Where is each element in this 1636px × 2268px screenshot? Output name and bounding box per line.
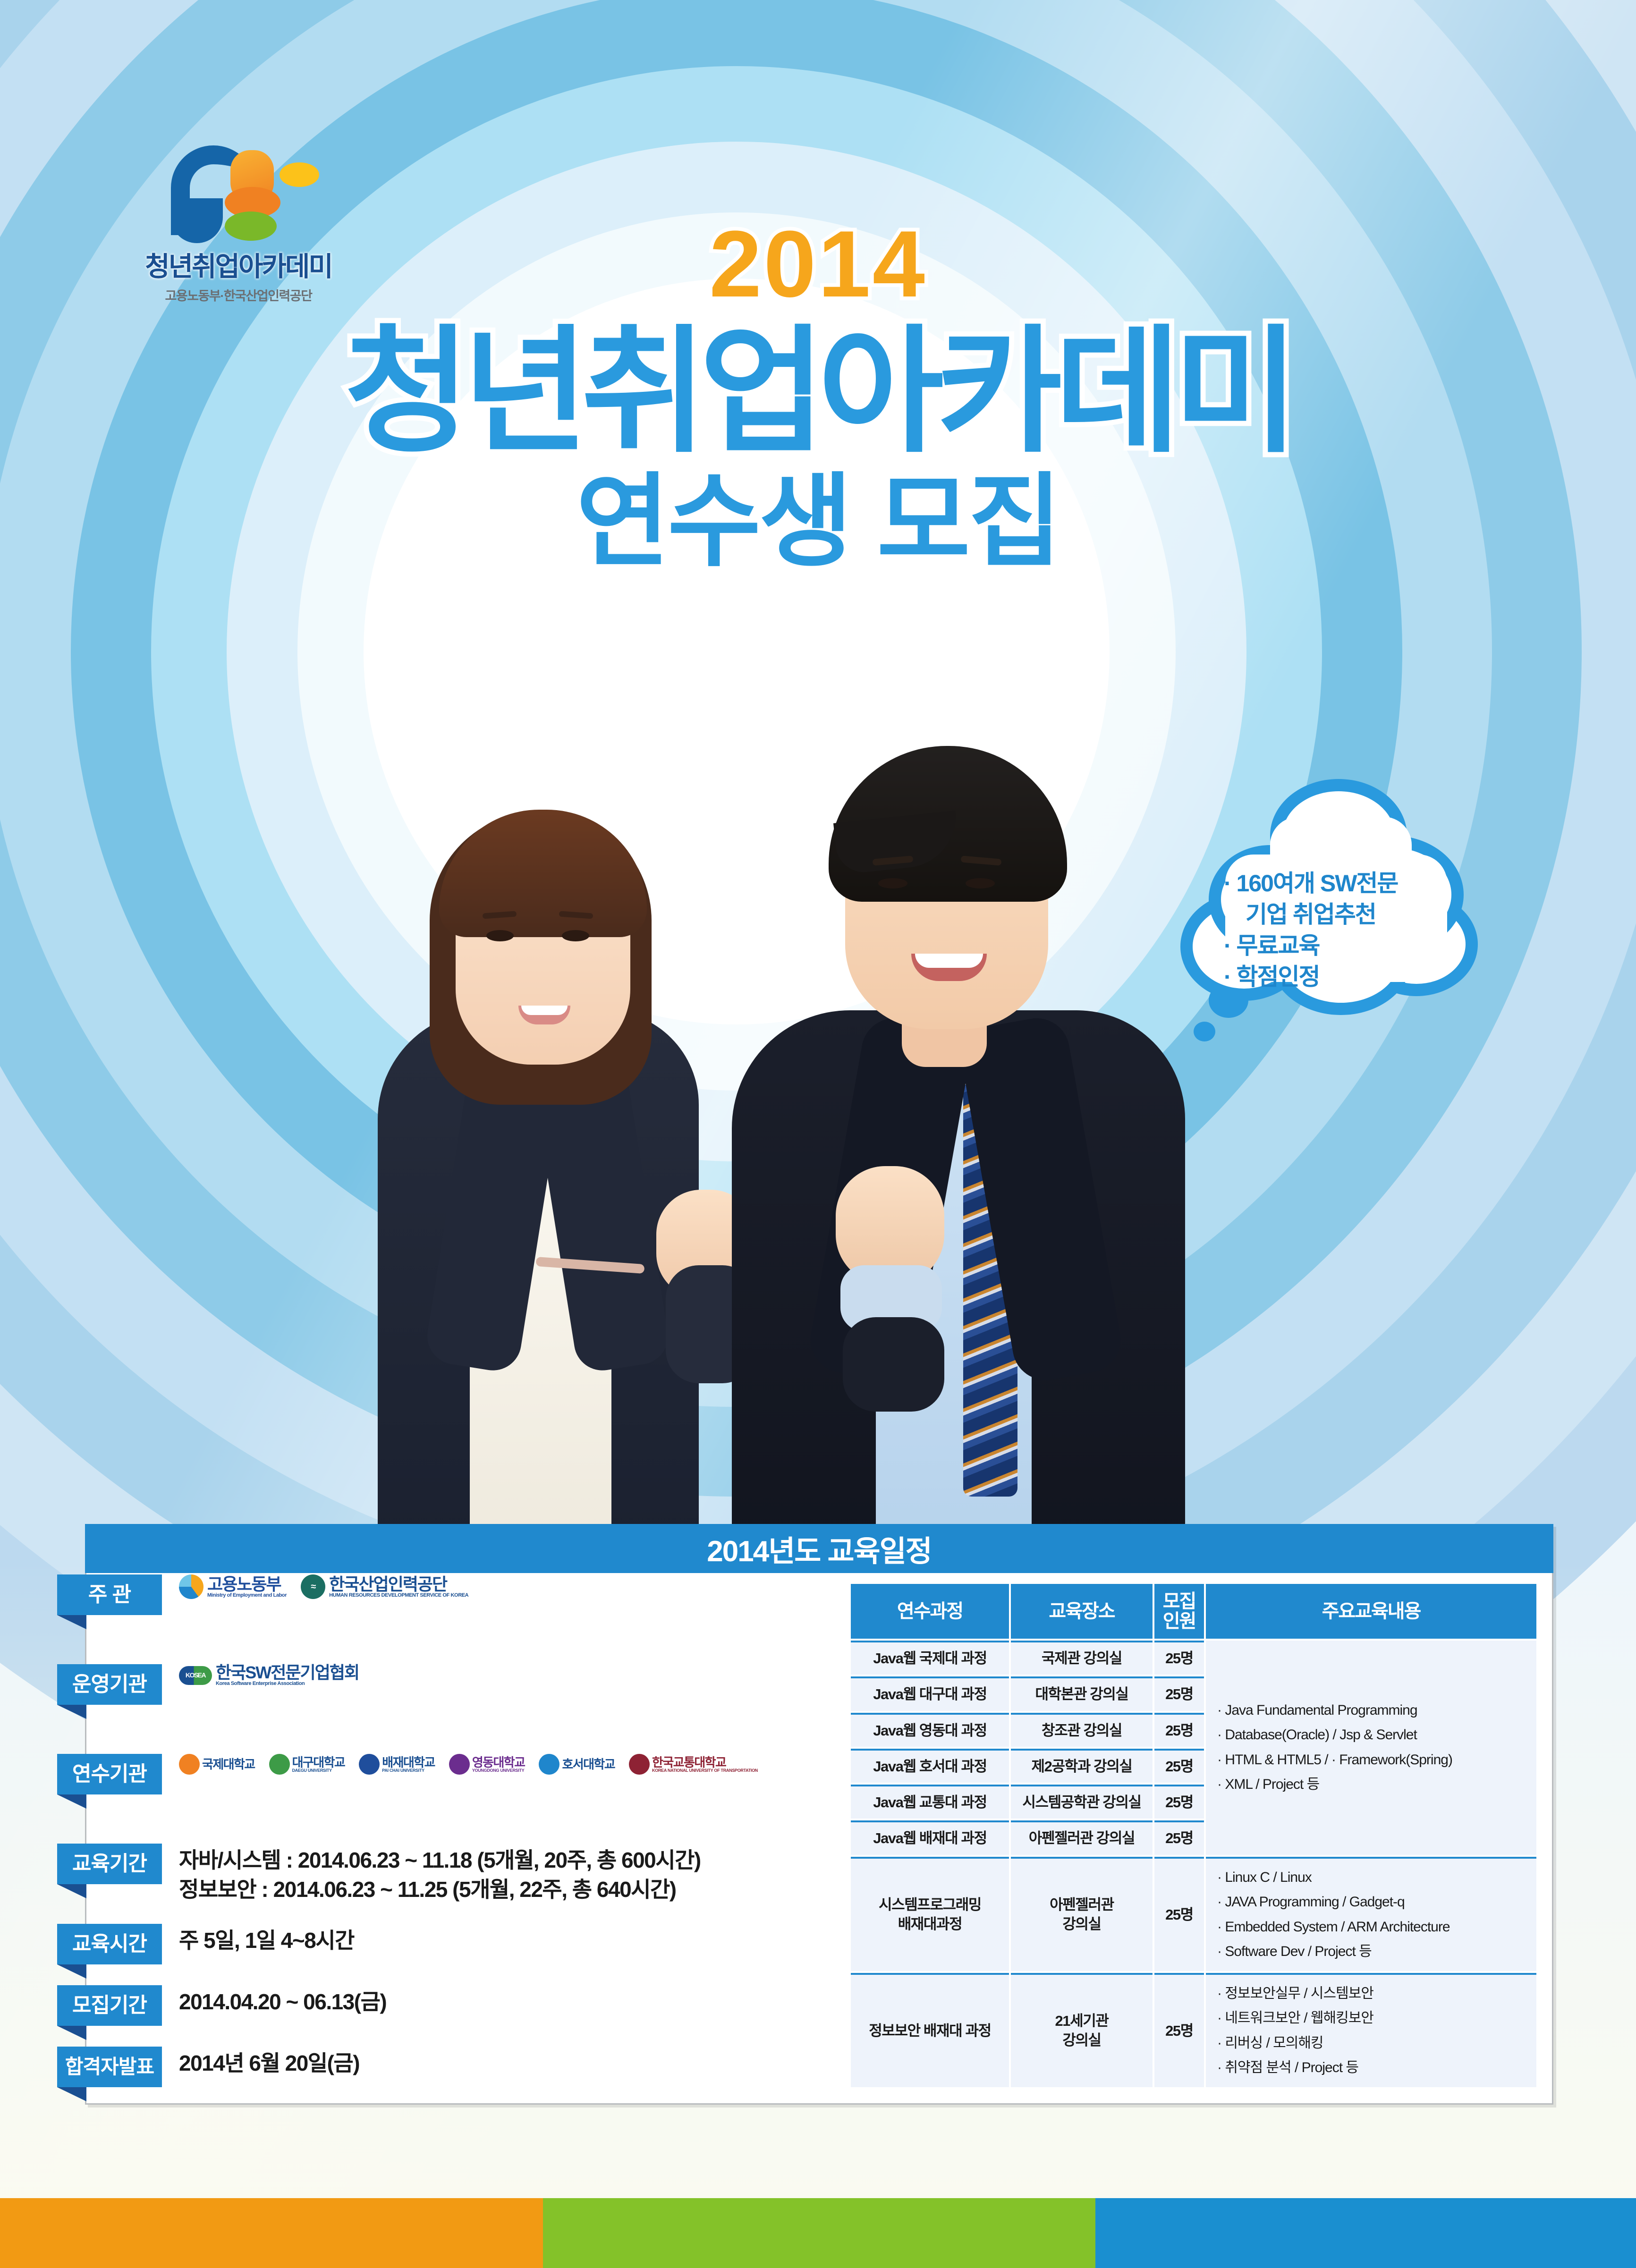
info-row-label: 합격자발표 bbox=[57, 2047, 162, 2087]
course-table-row: 정보보안 배재대 과정21세기관강의실25명· 정보보안실무 / 시스템보안· … bbox=[851, 1973, 1536, 2087]
partner-logo-name-ko: 한국산업인력공단 bbox=[329, 1576, 468, 1593]
university-seal-icon bbox=[179, 1754, 200, 1775]
university-logo-text: 대구대학교DAEGU UNIVERSITY bbox=[292, 1756, 345, 1773]
course-table-header-cell: 교육장소 bbox=[1011, 1584, 1153, 1639]
partner-logo-text: 한국SW전문기업협회Korea Software Enterprise Asso… bbox=[216, 1664, 359, 1686]
course-cell-place: 대학본관 강의실 bbox=[1011, 1676, 1153, 1710]
university-seal-icon bbox=[449, 1754, 470, 1775]
university-name-ko: 한국교통대학교 bbox=[652, 1756, 758, 1769]
info-row-value: 주 5일, 1일 4~8시간 bbox=[162, 1924, 842, 1955]
benefit-line-1: 기업 취업추천 bbox=[1224, 899, 1446, 930]
info-row-value: 2014년 6월 20일(금) bbox=[162, 2047, 842, 2078]
schedule-panel-header: 2014년도 교육일정 bbox=[85, 1524, 1553, 1573]
course-cell-place: 아펜젤러관 강의실 bbox=[1011, 1820, 1153, 1854]
program-info-list: 주 관고용노동부Ministry of Employment and Labor… bbox=[86, 1574, 842, 2108]
hrd-emblem-icon: ≈ bbox=[301, 1574, 325, 1599]
course-table: 연수과정교육장소모집인원주요교육내용 Java웹 국제대 과정국제관 강의실25… bbox=[849, 1582, 1538, 2089]
course-description-line: · HTML & HTML5 / · Framework(Spring) bbox=[1217, 1748, 1534, 1773]
benefit-line-2: · 무료교육 bbox=[1224, 930, 1446, 961]
university-logo-text: 국제대학교 bbox=[202, 1758, 255, 1770]
partner-logo: ≈한국산업인력공단HUMAN RESOURCES DEVELOPMENT SER… bbox=[301, 1574, 468, 1599]
course-table-header-cell: 연수과정 bbox=[851, 1584, 1009, 1639]
course-cell-quota: 25명 bbox=[1154, 1676, 1204, 1710]
course-cell-course: Java웹 영동대 과정 bbox=[851, 1713, 1009, 1747]
schedule-panel: 주 관고용노동부Ministry of Employment and Labor… bbox=[85, 1524, 1553, 2105]
course-cell-quota: 25명 bbox=[1154, 1785, 1204, 1819]
info-row-value: 고용노동부Ministry of Employment and Labor≈한국… bbox=[162, 1574, 842, 1599]
info-row-label: 연수기관 bbox=[57, 1754, 162, 1794]
benefit-line-0: · 160여개 SW전문 bbox=[1224, 868, 1446, 899]
course-cell-course: Java웹 교통대 과정 bbox=[851, 1785, 1009, 1819]
course-cell-description: · Java Fundamental Programming· Database… bbox=[1206, 1641, 1536, 1855]
logo-yellow-dot-shape bbox=[280, 162, 319, 187]
course-description-line: · Java Fundamental Programming bbox=[1217, 1698, 1534, 1723]
university-logo-text: 한국교통대학교KOREA NATIONAL UNIVERSITY OF TRAN… bbox=[652, 1756, 758, 1773]
info-text-line-0: 2014년 6월 20일(금) bbox=[179, 2048, 842, 2078]
course-cell-place: 아펜젤러관강의실 bbox=[1011, 1857, 1153, 1971]
university-name-ko: 대구대학교 bbox=[292, 1756, 345, 1769]
footer-strip-blue bbox=[1095, 2198, 1636, 2268]
course-description-line: · 취약점 분석 / Project 등 bbox=[1217, 2056, 1534, 2081]
info-row-value: 국제대학교대구대학교DAEGU UNIVERSITY배재대학교PAI CHAI … bbox=[162, 1754, 842, 1775]
partner-logo-name-ko: 고용노동부 bbox=[207, 1576, 287, 1593]
partner-logo-row: KOSEA한국SW전문기업협회Korea Software Enterprise… bbox=[179, 1664, 359, 1686]
course-cell-description: · 정보보안실무 / 시스템보안· 네트워크보안 / 웹해킹보안· 리버싱 / … bbox=[1206, 1973, 1536, 2087]
course-cell-quota: 25명 bbox=[1154, 1857, 1204, 1971]
benefits-list: · 160여개 SW전문기업 취업추천· 무료교육· 학점인정 bbox=[1224, 868, 1446, 992]
info-row: 모집기간2014.04.20 ~ 06.13(금) bbox=[86, 1985, 842, 2047]
benefit-line-3: · 학점인정 bbox=[1224, 961, 1446, 992]
kosea-emblem-icon: KOSEA bbox=[179, 1666, 212, 1685]
thought-bubble-dot-small bbox=[1194, 1022, 1215, 1041]
course-description-line: · XML / Project 등 bbox=[1217, 1772, 1534, 1797]
partner-logo-row: 고용노동부Ministry of Employment and Labor≈한국… bbox=[179, 1574, 468, 1599]
info-text-line-0: 2014.04.20 ~ 06.13(금) bbox=[179, 1987, 842, 2016]
course-cell-place: 시스템공학관 강의실 bbox=[1011, 1785, 1153, 1819]
info-row: 운영기관KOSEA한국SW전문기업협회Korea Software Enterp… bbox=[86, 1664, 842, 1754]
university-name-ko: 국제대학교 bbox=[202, 1758, 255, 1770]
info-text-line-0: 주 5일, 1일 4~8시간 bbox=[179, 1926, 842, 1955]
course-cell-place: 창조관 강의실 bbox=[1011, 1713, 1153, 1747]
info-row-label: 교육시간 bbox=[57, 1924, 162, 1964]
university-logo: 국제대학교 bbox=[179, 1754, 255, 1775]
university-logo: 호서대학교 bbox=[539, 1754, 615, 1775]
footer-strip-orange bbox=[0, 2198, 543, 2268]
university-logo: 대구대학교DAEGU UNIVERSITY bbox=[269, 1754, 345, 1775]
course-table-header-cell: 모집인원 bbox=[1154, 1584, 1204, 1639]
university-name-ko: 호서대학교 bbox=[562, 1758, 615, 1770]
woman-hair-top bbox=[439, 810, 647, 937]
partner-logo-name-en: Korea Software Enterprise Association bbox=[216, 1681, 359, 1686]
university-logo: 영동대학교YOUNGDONG UNIVERSITY bbox=[449, 1754, 525, 1775]
course-cell-quota: 25명 bbox=[1154, 1713, 1204, 1747]
course-table-head: 연수과정교육장소모집인원주요교육내용 bbox=[851, 1584, 1536, 1639]
info-row-label: 운영기관 bbox=[57, 1664, 162, 1705]
partner-logo-text: 한국산업인력공단HUMAN RESOURCES DEVELOPMENT SERV… bbox=[329, 1576, 468, 1598]
course-cell-place: 국제관 강의실 bbox=[1011, 1641, 1153, 1675]
info-row-value: 2014.04.20 ~ 06.13(금) bbox=[162, 1985, 842, 2016]
university-seal-icon bbox=[629, 1754, 650, 1775]
headline-title-line2: 연수생 모집 bbox=[0, 466, 1636, 578]
course-cell-course: Java웹 대구대 과정 bbox=[851, 1676, 1009, 1710]
course-cell-place: 제2공학과 강의실 bbox=[1011, 1749, 1153, 1783]
woman-eye-l bbox=[486, 930, 514, 941]
course-cell-course: 시스템프로그래밍배재대과정 bbox=[851, 1857, 1009, 1971]
man-forearm bbox=[843, 1317, 944, 1412]
info-text-line-1: 정보보안 : 2014.06.23 ~ 11.25 (5개월, 22주, 총 6… bbox=[179, 1875, 842, 1904]
info-row: 합격자발표2014년 6월 20일(금) bbox=[86, 2047, 842, 2108]
headline-year: 2014 bbox=[0, 217, 1636, 312]
university-logo-row: 국제대학교대구대학교DAEGU UNIVERSITY배재대학교PAI CHAI … bbox=[179, 1754, 758, 1775]
course-cell-quota: 25명 bbox=[1154, 1641, 1204, 1675]
info-row: 교육기간자바/시스템 : 2014.06.23 ~ 11.18 (5개월, 20… bbox=[86, 1844, 842, 1924]
course-description-line: · Embedded System / ARM Architecture bbox=[1217, 1915, 1534, 1940]
info-row: 연수기관국제대학교대구대학교DAEGU UNIVERSITY배재대학교PAI C… bbox=[86, 1754, 842, 1844]
university-logo-text: 호서대학교 bbox=[562, 1758, 615, 1770]
university-name-en: DAEGU UNIVERSITY bbox=[292, 1769, 345, 1773]
course-description-line: · JAVA Programming / Gadget-q bbox=[1217, 1890, 1534, 1915]
university-seal-icon bbox=[269, 1754, 290, 1775]
course-cell-quota: 25명 bbox=[1154, 1749, 1204, 1783]
benefits-thought-bubble: · 160여개 SW전문기업 취업추천· 무료교육· 학점인정 bbox=[1180, 774, 1483, 1039]
course-table-header-cell: 주요교육내용 bbox=[1206, 1584, 1536, 1639]
info-row-label: 주 관 bbox=[57, 1574, 162, 1615]
info-text-line-0: 자바/시스템 : 2014.06.23 ~ 11.18 (5개월, 20주, 총… bbox=[179, 1845, 842, 1875]
partner-logo-text: 고용노동부Ministry of Employment and Labor bbox=[207, 1576, 287, 1598]
university-seal-icon bbox=[359, 1754, 380, 1775]
university-name-ko: 영동대학교 bbox=[472, 1756, 525, 1769]
student-pair-photo bbox=[373, 708, 1213, 1539]
info-row-value: 자바/시스템 : 2014.06.23 ~ 11.18 (5개월, 20주, 총… bbox=[162, 1844, 842, 1904]
course-cell-course: 정보보안 배재대 과정 bbox=[851, 1973, 1009, 2087]
footer-strip-green bbox=[543, 2198, 1095, 2268]
man-eye-l bbox=[878, 878, 907, 889]
course-description-line: · Linux C / Linux bbox=[1217, 1865, 1534, 1890]
man-eye-r bbox=[966, 878, 995, 889]
course-table-row: Java웹 국제대 과정국제관 강의실25명· Java Fundamental… bbox=[851, 1641, 1536, 1675]
university-name-en: KOREA NATIONAL UNIVERSITY OF TRANSPORTAT… bbox=[652, 1769, 758, 1773]
course-cell-course: Java웹 국제대 과정 bbox=[851, 1641, 1009, 1675]
course-table-body: Java웹 국제대 과정국제관 강의실25명· Java Fundamental… bbox=[851, 1641, 1536, 2087]
info-row: 교육시간주 5일, 1일 4~8시간 bbox=[86, 1924, 842, 1985]
course-cell-course: Java웹 호서대 과정 bbox=[851, 1749, 1009, 1783]
course-table-header-row: 연수과정교육장소모집인원주요교육내용 bbox=[851, 1584, 1536, 1639]
info-row: 주 관고용노동부Ministry of Employment and Labor… bbox=[86, 1574, 842, 1664]
course-description-line: · Database(Oracle) / Jsp & Servlet bbox=[1217, 1723, 1534, 1748]
university-name-ko: 배재대학교 bbox=[382, 1756, 435, 1769]
man-teeth bbox=[915, 954, 983, 968]
partner-logo-name-en: Ministry of Employment and Labor bbox=[207, 1593, 287, 1598]
university-logo-text: 영동대학교YOUNGDONG UNIVERSITY bbox=[472, 1756, 525, 1773]
university-name-en: PAI CHAI UNIVERSITY bbox=[382, 1769, 435, 1773]
partner-logo-name-ko: 한국SW전문기업협회 bbox=[216, 1664, 359, 1681]
partner-logo: KOSEA한국SW전문기업협회Korea Software Enterprise… bbox=[179, 1664, 359, 1686]
course-cell-quota: 25명 bbox=[1154, 1820, 1204, 1854]
info-row-label: 교육기간 bbox=[57, 1844, 162, 1884]
headline-title-line1: 청년취업아카데미 bbox=[0, 320, 1636, 464]
partner-logo-name-en: HUMAN RESOURCES DEVELOPMENT SERVICE OF K… bbox=[329, 1593, 468, 1598]
moel-emblem-icon bbox=[179, 1574, 203, 1599]
university-logo: 배재대학교PAI CHAI UNIVERSITY bbox=[359, 1754, 435, 1775]
footer-color-strip bbox=[0, 2198, 1636, 2268]
university-seal-icon bbox=[539, 1754, 559, 1775]
woman-eye-r bbox=[562, 930, 589, 941]
course-description-line: · 네트워크보안 / 웹해킹보안 bbox=[1217, 2006, 1534, 2031]
partner-logo: 고용노동부Ministry of Employment and Labor bbox=[179, 1574, 287, 1599]
course-cell-quota: 25명 bbox=[1154, 1973, 1204, 2087]
university-logo-text: 배재대학교PAI CHAI UNIVERSITY bbox=[382, 1756, 435, 1773]
university-name-en: YOUNGDONG UNIVERSITY bbox=[472, 1769, 525, 1773]
course-description-line: · 정보보안실무 / 시스템보안 bbox=[1217, 1981, 1534, 2006]
course-table-row: 시스템프로그래밍배재대과정아펜젤러관강의실25명· Linux C / Linu… bbox=[851, 1857, 1536, 1971]
poster-headline: 2014 청년취업아카데미 연수생 모집 bbox=[0, 217, 1636, 577]
course-cell-description: · Linux C / Linux· JAVA Programming / Ga… bbox=[1206, 1857, 1536, 1971]
university-logo: 한국교통대학교KOREA NATIONAL UNIVERSITY OF TRAN… bbox=[629, 1754, 758, 1775]
course-description-line: · Software Dev / Project 등 bbox=[1217, 1939, 1534, 1964]
course-description-line: · 리버싱 / 모의해킹 bbox=[1217, 2031, 1534, 2056]
info-row-label: 모집기간 bbox=[57, 1985, 162, 2026]
info-row-value: KOSEA한국SW전문기업협회Korea Software Enterprise… bbox=[162, 1664, 842, 1686]
course-cell-place: 21세기관강의실 bbox=[1011, 1973, 1153, 2087]
course-cell-course: Java웹 배재대 과정 bbox=[851, 1820, 1009, 1854]
woman-teeth bbox=[521, 1006, 568, 1015]
